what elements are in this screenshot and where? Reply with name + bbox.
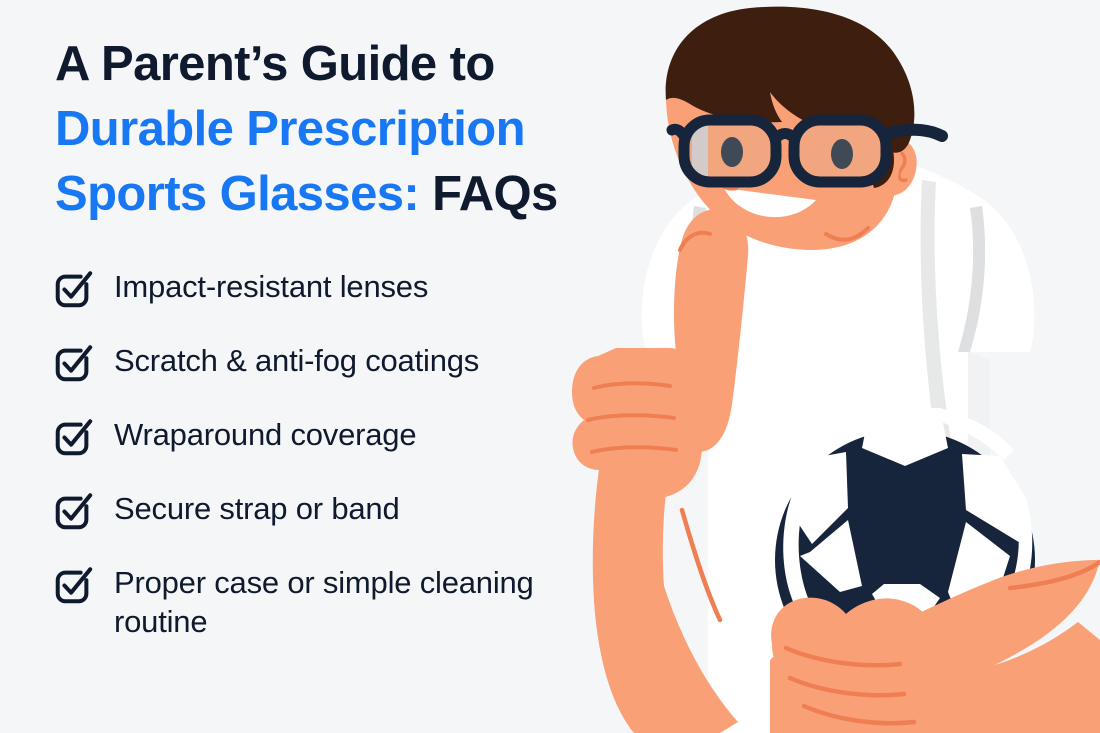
list-item-label: Wraparound coverage <box>114 415 416 454</box>
checkbox-check-icon <box>52 269 94 311</box>
list-item-label: Scratch & anti-fog coatings <box>114 341 479 380</box>
headline-line-3-blue: Sports Glasses: <box>55 167 419 221</box>
checkbox-check-icon <box>52 491 94 533</box>
list-item-label: Impact-resistant lenses <box>114 267 428 306</box>
checkbox-check-icon <box>52 565 94 607</box>
checkbox-check-icon <box>52 343 94 385</box>
checkbox-check-icon <box>52 417 94 459</box>
list-item-label: Secure strap or band <box>114 489 400 528</box>
boy-with-glasses-holding-soccer-ball-illustration <box>470 0 1100 733</box>
infographic-canvas: A Parent’s Guide to Durable Prescription… <box>0 0 1100 733</box>
